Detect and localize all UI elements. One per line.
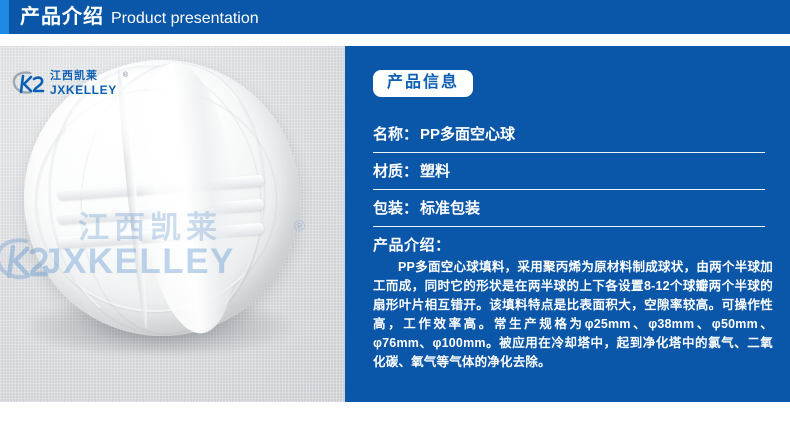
- brand-logo: 江西凯莱 JXKELLEY ®: [12, 70, 128, 96]
- header-title-en: Product presentation: [111, 2, 259, 34]
- spec-row-packaging: 包装： 标准包装: [373, 190, 765, 227]
- header-title-cn: 产品介绍: [20, 0, 104, 34]
- header-accent-bar: [0, 0, 9, 34]
- spec-label: 材质：: [373, 160, 418, 181]
- brand-name-en: JXKELLEY: [50, 84, 117, 96]
- page-header-bar: 产品介绍 Product presentation: [0, 0, 790, 34]
- spec-value: 塑料: [420, 160, 450, 181]
- spec-row-material: 材质： 塑料: [373, 153, 765, 190]
- product-photo: 江西凯莱 JXKELLEY ® 江西凯莱 JXKELLEY ®: [0, 46, 345, 402]
- spec-value: PP多面空心球: [420, 123, 515, 144]
- spec-value: 标准包装: [420, 197, 480, 218]
- brand-name-cn: 江西凯莱: [50, 71, 117, 82]
- spec-row-name: 名称： PP多面空心球: [373, 116, 765, 153]
- product-spec-list: 名称： PP多面空心球 材质： 塑料 包装： 标准包装: [373, 116, 765, 227]
- description-body: PP多面空心球填料，采用聚丙烯为原材料制成球状，由两个半球加工而成，同时它的形状…: [373, 258, 773, 372]
- product-info-badge: 产品信息: [373, 70, 473, 97]
- description-title: 产品介绍：: [373, 234, 451, 255]
- registered-trademark-icon: ®: [123, 72, 128, 79]
- spec-label: 包装：: [373, 197, 418, 218]
- product-info-panel: 产品信息 名称： PP多面空心球 材质： 塑料 包装： 标准包装 产品介绍： P…: [345, 46, 790, 402]
- brand-logo-text: 江西凯莱 JXKELLEY: [50, 71, 117, 96]
- k2-swoosh-icon: [12, 70, 46, 96]
- header-title-group: 产品介绍 Product presentation: [20, 0, 259, 34]
- hollow-ball-product-image: [24, 60, 300, 336]
- product-presentation-page: 产品介绍 Product presentation: [0, 0, 790, 422]
- spec-label: 名称：: [373, 123, 418, 144]
